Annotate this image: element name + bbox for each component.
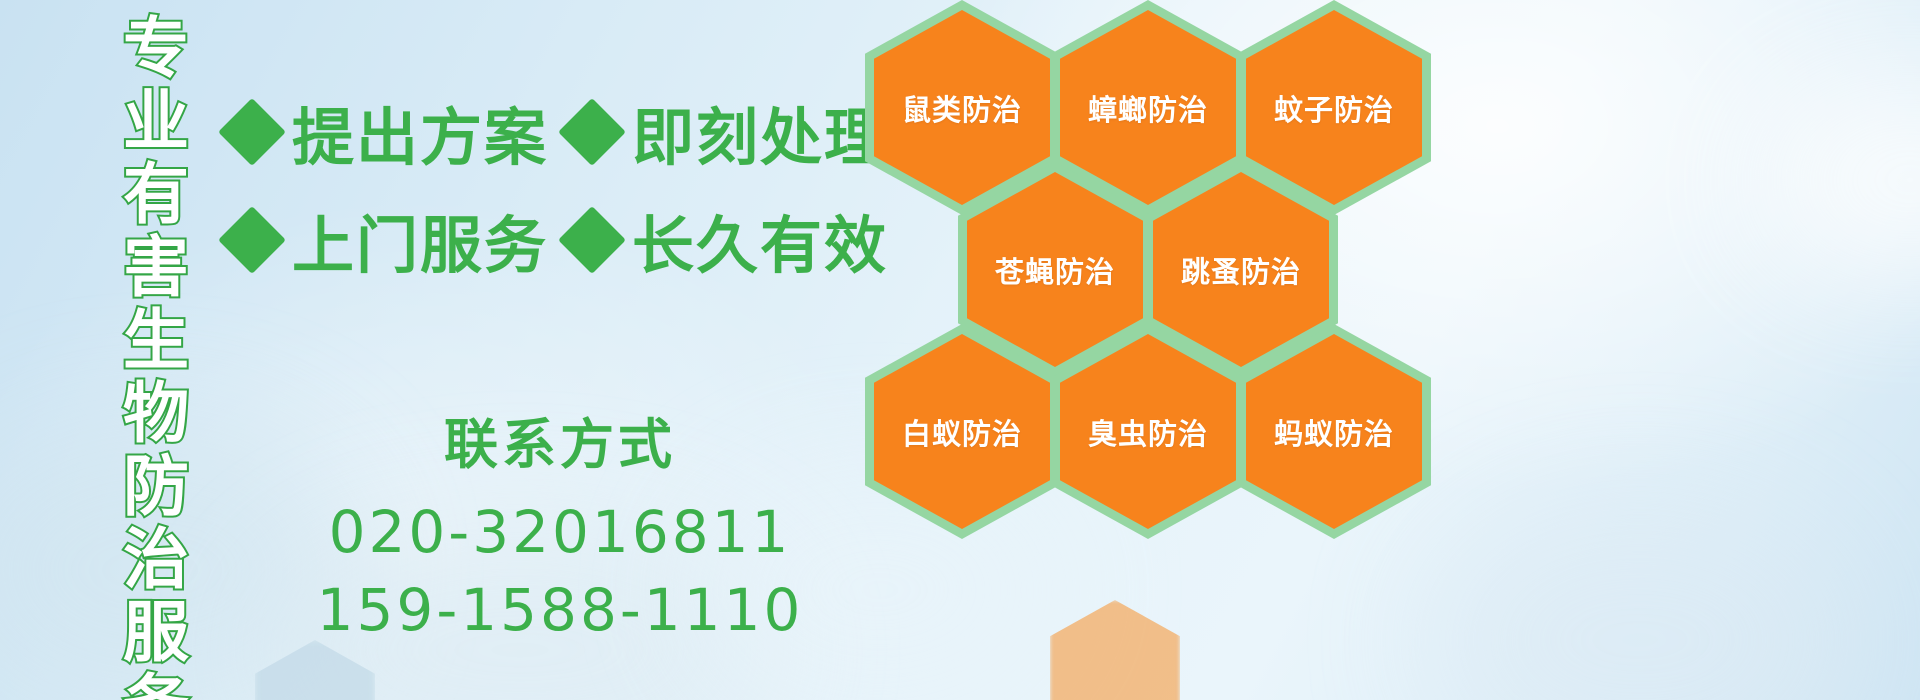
service-hexagon-label: 蟑螂防治: [1088, 87, 1208, 129]
service-hexagon-label: 苍蝇防治: [995, 249, 1115, 291]
feature-row: 上门服务 长久有效: [228, 186, 868, 294]
service-hexagon-label: 臭虫防治: [1088, 411, 1208, 453]
feature-label: 上门服务: [292, 195, 548, 285]
background-blob: [1760, 80, 1920, 280]
vertical-headline-char: 有: [123, 158, 189, 231]
service-hexagon-face: 蚊子防治: [1246, 10, 1422, 205]
feature-list: 提出方案 即刻处理 上门服务 长久有效: [228, 78, 868, 294]
vertical-headline-char: 服: [123, 596, 189, 669]
feature-label: 即刻处理: [632, 87, 888, 177]
feature-row: 提出方案 即刻处理: [228, 78, 868, 186]
phone-number-mobile[interactable]: 159-1588-1110: [250, 571, 870, 649]
diamond-bullet-icon: [558, 98, 626, 166]
feature-label: 提出方案: [292, 87, 548, 177]
feature-item: 长久有效: [568, 195, 888, 285]
service-hexagon-face: 蚂蚁防治: [1246, 334, 1422, 529]
vertical-headline-char: 物: [123, 377, 189, 450]
service-hexagon-grid: 鼠类防治 蟑螂防治 蚊子防治 苍蝇防治 跳蚤防治 白蚁防治: [855, 0, 1455, 650]
feature-item: 提出方案: [228, 87, 548, 177]
vertical-headline-char: 专: [123, 12, 189, 85]
diamond-bullet-icon: [218, 98, 286, 166]
vertical-headline-char: 防: [123, 450, 189, 523]
vertical-headline-char: 生: [123, 304, 189, 377]
service-hexagon-face: 臭虫防治: [1060, 334, 1236, 529]
diamond-bullet-icon: [218, 206, 286, 274]
vertical-headline-char: 务: [123, 669, 189, 700]
service-hexagon-face: 白蚁防治: [874, 334, 1050, 529]
service-hexagon-face: 跳蚤防治: [1153, 172, 1329, 367]
phone-number-landline[interactable]: 020-32016811: [250, 493, 870, 571]
service-hexagon-label: 鼠类防治: [902, 87, 1022, 129]
vertical-headline-char: 害: [123, 231, 189, 304]
service-hexagon-label: 跳蚤防治: [1181, 249, 1301, 291]
service-hexagon-face: 蟑螂防治: [1060, 10, 1236, 205]
service-hexagon-face: 鼠类防治: [874, 10, 1050, 205]
background-blob: [1430, 500, 1850, 700]
service-hexagon-label: 蚊子防治: [1274, 87, 1394, 129]
vertical-headline-char: 业: [123, 85, 189, 158]
service-hexagon-label: 蚂蚁防治: [1274, 411, 1394, 453]
contact-block: 联系方式 020-32016811 159-1588-1110: [250, 400, 870, 649]
service-hexagon-face: 苍蝇防治: [967, 172, 1143, 367]
feature-item: 上门服务: [228, 195, 548, 285]
service-hexagon-label: 白蚁防治: [902, 411, 1022, 453]
diamond-bullet-icon: [558, 206, 626, 274]
contact-heading: 联系方式: [250, 400, 870, 479]
promotional-banner: 专 业 有 害 生 物 防 治 服 务 提出方案 即刻处理 上门服务: [0, 0, 1920, 700]
feature-label: 长久有效: [632, 195, 888, 285]
vertical-headline: 专 业 有 害 生 物 防 治 服 务: [104, 12, 208, 688]
feature-item: 即刻处理: [568, 87, 888, 177]
vertical-headline-char: 治: [123, 523, 189, 596]
